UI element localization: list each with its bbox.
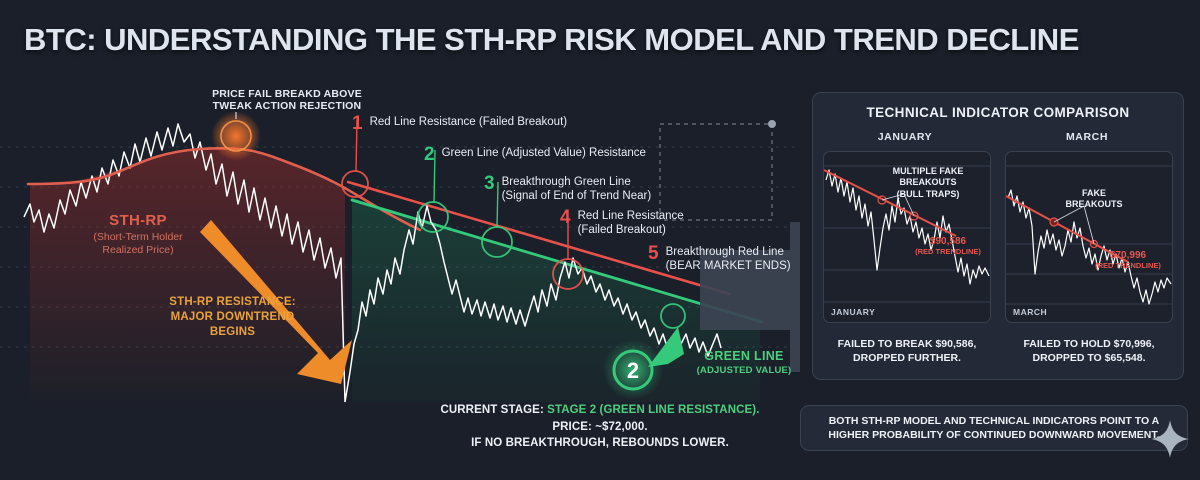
- mini-chart-march-svg: [1006, 152, 1173, 323]
- zoom-selection-box[interactable]: [660, 120, 776, 220]
- legend-item-3: 3 Breakthrough Green Line (Signal of End…: [484, 174, 651, 204]
- conclusion-box: BOTH STH-RP MODEL AND TECHNICAL INDICATO…: [800, 405, 1188, 451]
- sparkle-icon: [1149, 418, 1191, 460]
- downtrend-label: STH-RP RESISTANCE: MAJOR DOWNTREND BEGIN…: [140, 295, 325, 340]
- legend-text-3: Breakthrough Green Line (Signal of End o…: [502, 174, 652, 204]
- infographic-root: BTC: UNDERSTANDING THE STH-RP RISK MODEL…: [0, 0, 1200, 480]
- legend-text-1: Red Line Resistance (Failed Breakout): [370, 114, 568, 130]
- legend-text-2: Green Line (Adjusted Value) Resistance: [442, 145, 646, 161]
- legend-item-5: 5 Breakthrough Red Line (BEAR MARKET END…: [648, 244, 791, 274]
- mini-chart-label-march: MARCH: [1013, 307, 1047, 317]
- mini-price-sub-march: (RED TRENDLINE): [1088, 262, 1168, 271]
- sthrp-label: STH-RP: [58, 212, 218, 230]
- panel-footer-january: FAILED TO BREAK $90,586, DROPPED FURTHER…: [819, 337, 995, 365]
- legend-number-1: 1: [352, 114, 363, 133]
- current-stage-summary: CURRENT STAGE: STAGE 2 (GREEN LINE RESIS…: [400, 402, 800, 452]
- sthrp-area-fill: [30, 148, 345, 402]
- legend-text-4: Red Line Resistance (Failed Breakout): [578, 208, 684, 238]
- legend-number-5: 5: [648, 244, 659, 263]
- current-stage-value: STAGE 2 (GREEN LINE RESISTANCE).: [547, 404, 759, 416]
- legend-item-1: 1 Red Line Resistance (Failed Breakout): [352, 114, 567, 133]
- mini-price-sub-january: (RED TRENDLINE): [910, 248, 986, 257]
- legend-item-2: 2 Green Line (Adjusted Value) Resistance: [424, 145, 646, 164]
- current-stage-line3: IF NO BREAKTHROUGH, REBOUNDS LOWER.: [400, 435, 800, 452]
- mini-chart-january: MULTIPLE FAKE BREAKOUTS (BULL TRAPS) $90…: [823, 151, 991, 323]
- current-stage-line2: PRICE: ~$72,000.: [400, 419, 800, 436]
- current-stage-line1: CURRENT STAGE: STAGE 2 (GREEN LINE RESIS…: [400, 402, 800, 419]
- price-fail-callout: PRICE FAIL BREAKD ABOVE TWEAK ACTION REJ…: [172, 88, 402, 113]
- mini-note-january: MULTIPLE FAKE BREAKOUTS (BULL TRAPS): [876, 166, 980, 200]
- green-line-label: GREEN LINE: [688, 349, 800, 364]
- technical-indicator-panel: TECHNICAL INDICATOR COMPARISON JANUARY M…: [812, 92, 1184, 380]
- page-title: BTC: UNDERSTANDING THE STH-RP RISK MODEL…: [24, 22, 1079, 58]
- mini-chart-label-january: JANUARY: [831, 307, 875, 317]
- legend-number-4: 4: [560, 208, 571, 227]
- current-stage-prefix: CURRENT STAGE:: [440, 404, 547, 416]
- panel-footer-march: FAILED TO HOLD $70,996, DROPPED TO $65,5…: [1001, 337, 1177, 365]
- legend-text-5: Breakthrough Red Line (BEAR MARKET ENDS): [666, 244, 791, 274]
- mini-gridlines-march: [1006, 166, 1173, 304]
- mini-note-march: FAKE BREAKOUTS: [1054, 188, 1134, 211]
- mini-price-value-march: $70,996: [1088, 250, 1168, 262]
- sthrp-sublabel: (Short-Term Holder Realized Price): [38, 231, 238, 257]
- panel-heading-march: MARCH: [1003, 131, 1171, 143]
- legend-item-4: 4 Red Line Resistance (Failed Breakout): [560, 208, 684, 238]
- panel-title: TECHNICAL INDICATOR COMPARISON: [813, 105, 1183, 120]
- mini-price-march: $70,996 (RED TRENDLINE): [1088, 250, 1168, 270]
- mini-price-january: $90,586 (RED TRENDLINE): [910, 236, 986, 256]
- legend-number-2: 2: [424, 145, 435, 164]
- stage-badge-number: 2: [627, 358, 639, 383]
- conclusion-text: BOTH STH-RP MODEL AND TECHNICAL INDICATO…: [828, 414, 1159, 442]
- mini-chart-march: FAKE BREAKOUTS $70,996 (RED TRENDLINE) M…: [1005, 151, 1173, 323]
- legend-number-3: 3: [484, 174, 495, 193]
- panel-heading-january: JANUARY: [821, 131, 989, 143]
- green-line-sublabel: (ADJUSTED VALUE): [680, 365, 808, 376]
- mini-price-value-january: $90,586: [910, 236, 986, 248]
